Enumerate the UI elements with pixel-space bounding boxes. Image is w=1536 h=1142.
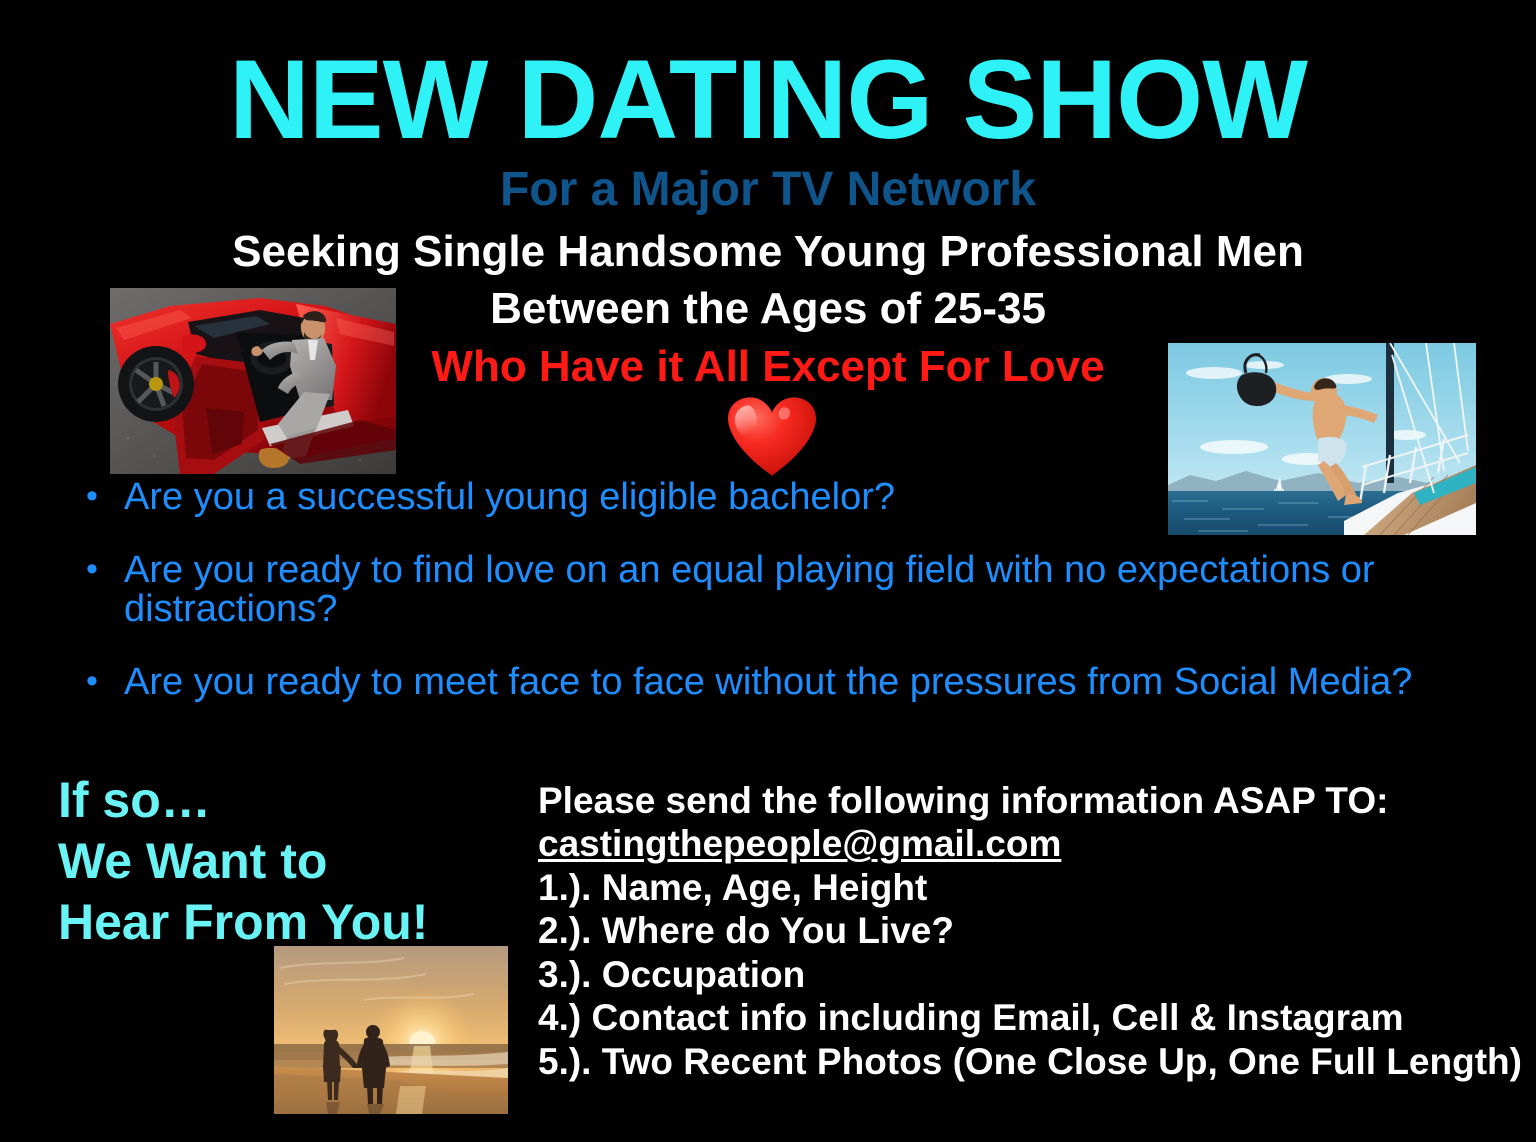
instructions-item: 1.). Name, Age, Height [538, 866, 1522, 909]
casting-flyer: NEW DATING SHOW For a Major TV Network S… [0, 0, 1536, 1142]
list-item: • Are you ready to find love on an equal… [72, 551, 1472, 629]
list-item: • Are you ready to meet face to face wit… [72, 663, 1472, 702]
bullet-marker-icon: • [72, 478, 124, 515]
red-heart-icon [728, 396, 816, 478]
photo-man-in-red-sports-car [110, 288, 396, 474]
instructions-item: 5.). Two Recent Photos (One Close Up, On… [538, 1040, 1522, 1083]
list-item-label: Are you ready to meet face to face witho… [124, 663, 1454, 702]
instructions-item: 4.) Contact info including Email, Cell &… [538, 996, 1522, 1039]
list-item: • Are you a successful young eligible ba… [72, 478, 1472, 517]
list-item-label: Are you a successful young eligible bach… [124, 478, 1454, 517]
instructions-item: 2.). Where do You Live? [538, 909, 1522, 952]
casting-email-link[interactable]: castingthepeople@gmail.com [538, 822, 1522, 865]
questions-list: • Are you a successful young eligible ba… [72, 478, 1472, 737]
photo-couple-beach-sunset [274, 946, 508, 1114]
instructions-header: Please send the following information AS… [538, 779, 1522, 822]
call-to-action: If so… We Want to Hear From You! [58, 770, 428, 953]
bullet-marker-icon: • [72, 663, 124, 700]
list-item-label: Are you ready to find love on an equal p… [124, 551, 1454, 629]
bullet-marker-icon: • [72, 551, 124, 588]
seeking-line-1: Seeking Single Handsome Young Profession… [0, 230, 1536, 274]
call-to-action-line-1: If so… [58, 770, 428, 831]
call-to-action-line-3: Hear From You! [58, 892, 428, 953]
page-title: NEW DATING SHOW [0, 44, 1536, 156]
subtitle: For a Major TV Network [0, 166, 1536, 214]
submission-instructions: Please send the following information AS… [538, 779, 1522, 1083]
instructions-item: 3.). Occupation [538, 953, 1522, 996]
call-to-action-line-2: We Want to [58, 831, 428, 892]
